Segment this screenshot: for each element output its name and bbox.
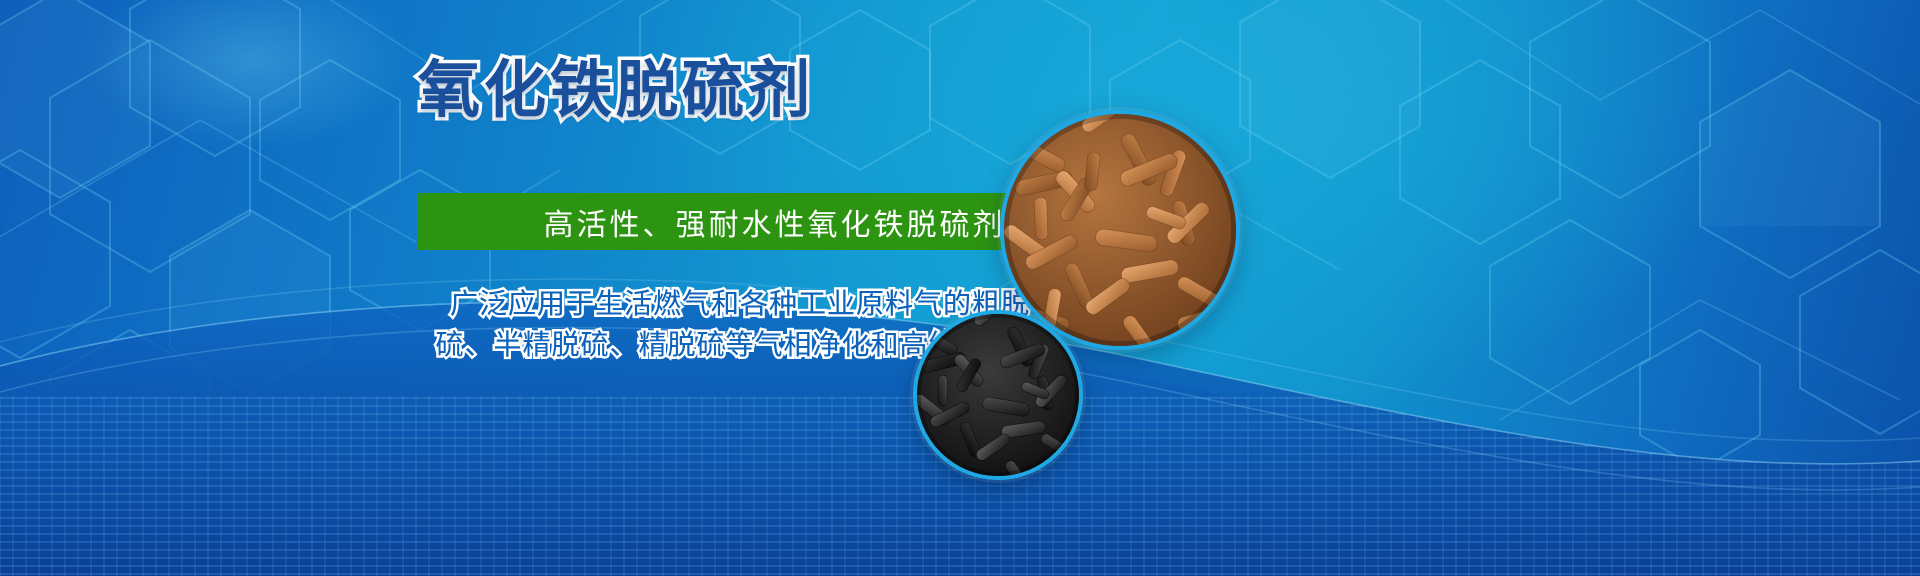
iron-oxide-desulfurizer-pellets-image bbox=[1000, 110, 1240, 350]
activated-carbon-pellets-image bbox=[913, 310, 1083, 480]
highlight-bar-text: 高活性、强耐水性氧化铁脱硫剂 bbox=[544, 200, 1006, 244]
product-banner: 氧化铁脱硫剂 氧化铁脱硫剂 高活性、强耐水性氧化铁脱硫剂 广泛应用于生活燃气和各… bbox=[0, 0, 1920, 576]
page-title: 氧化铁脱硫剂 bbox=[418, 60, 814, 122]
banner-copy: 氧化铁脱硫剂 氧化铁脱硫剂 高活性、强耐水性氧化铁脱硫剂 广泛应用于生活燃气和各… bbox=[0, 0, 1190, 576]
